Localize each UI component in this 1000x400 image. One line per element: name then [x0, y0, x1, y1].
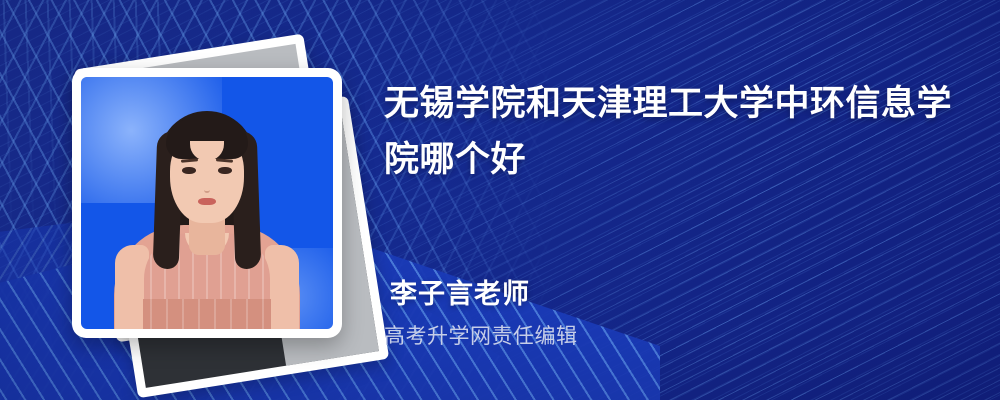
portrait-hair-fringe — [166, 119, 248, 159]
portrait-dress-waist — [143, 299, 271, 329]
article-author-banner: 无锡学院和天津理工大学中环信息学院哪个好 李子言老师 高考升学网责任编辑 — [0, 0, 1000, 400]
author-role: 高考升学网责任编辑 — [384, 320, 578, 350]
portrait-mouth — [198, 198, 216, 205]
author-photo-card — [72, 68, 342, 338]
portrait-eye-left — [182, 167, 196, 174]
author-photo — [81, 77, 333, 329]
banner-text-column: 无锡学院和天津理工大学中环信息学院哪个好 李子言老师 高考升学网责任编辑 — [384, 0, 974, 400]
author-portrait — [109, 105, 305, 329]
author-photo-card-stack — [56, 40, 356, 360]
article-headline: 无锡学院和天津理工大学中环信息学院哪个好 — [384, 76, 964, 188]
portrait-nose — [204, 183, 210, 193]
author-name: 李子言老师 — [390, 272, 530, 311]
portrait-eye-right — [218, 167, 232, 174]
